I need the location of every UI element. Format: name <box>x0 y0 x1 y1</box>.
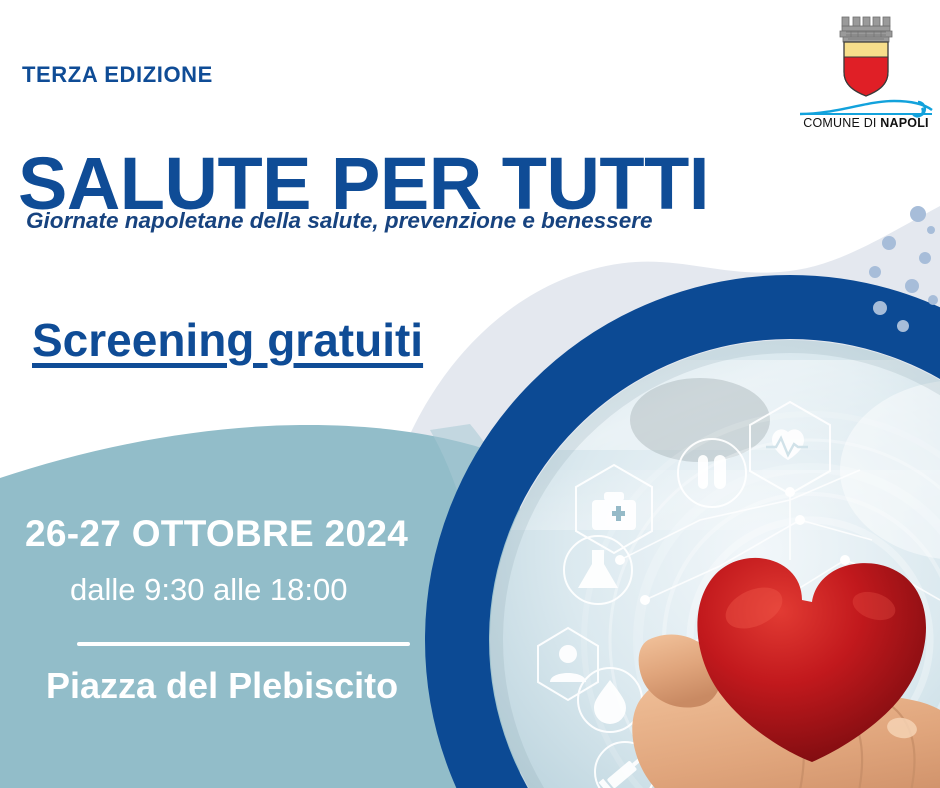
event-location: Piazza del Plebiscito <box>46 665 398 707</box>
edition-eyebrow: TERZA EDIZIONE <box>22 62 213 88</box>
comune-di-napoli-logo: COMUNE DI NAPOLI <box>796 14 936 134</box>
logo-text: COMUNE DI NAPOLI <box>796 116 936 130</box>
logo-text-napoli: NAPOLI <box>880 116 928 130</box>
mural-crown-icon <box>840 17 892 42</box>
divider-rule <box>77 642 410 646</box>
logo-text-comune-di: COMUNE DI <box>803 116 880 130</box>
logo-wordmark: COMUNE DI NAPOLI <box>796 98 936 134</box>
event-hours: dalle 9:30 alle 18:00 <box>70 572 348 608</box>
subtitle: Giornate napoletane della salute, preven… <box>26 208 652 234</box>
event-date: 26-27 OTTOBRE 2024 <box>25 513 408 555</box>
napoli-coat-of-arms-icon <box>796 14 936 98</box>
poster-canvas: COMUNE DI NAPOLI TERZA EDIZIONE SALUTE P… <box>0 0 940 788</box>
shield-icon <box>844 42 888 96</box>
screening-highlight: Screening gratuiti <box>32 313 423 367</box>
